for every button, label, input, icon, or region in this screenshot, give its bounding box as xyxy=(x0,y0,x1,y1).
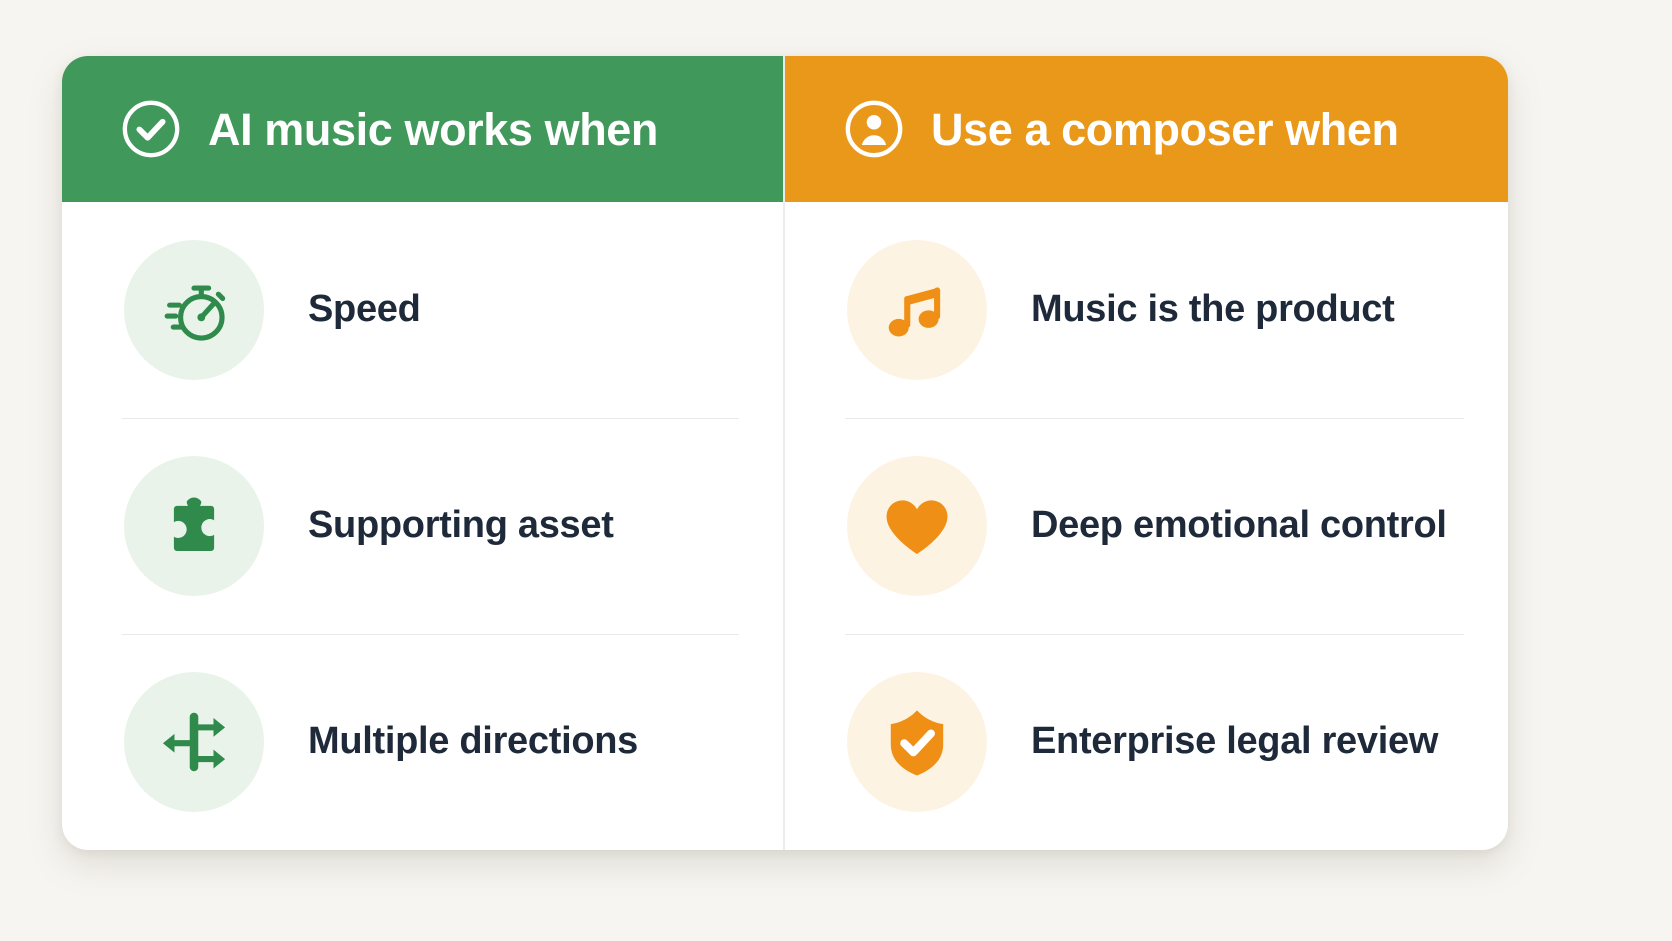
column-body-composer: Music is the product Deep emotional cont… xyxy=(785,202,1508,850)
list-item-label: Multiple directions xyxy=(308,721,638,763)
puzzle-piece-icon xyxy=(124,456,264,596)
list-item[interactable]: Supporting asset xyxy=(62,418,783,634)
list-item[interactable]: Music is the product xyxy=(785,202,1508,418)
column-header-title: Use a composer when xyxy=(931,107,1399,152)
person-circle-icon xyxy=(843,98,905,160)
check-circle-icon xyxy=(120,98,182,160)
column-composer: Use a composer when Music is the xyxy=(785,56,1508,850)
list-item[interactable]: Multiple directions xyxy=(62,634,783,850)
list-item-label: Speed xyxy=(308,289,421,331)
column-body-ai-music: Speed Supporting asset xyxy=(62,202,783,850)
comparison-card: AI music works when xyxy=(62,56,1508,850)
column-header-title: AI music works when xyxy=(208,107,658,152)
column-ai-music: AI music works when xyxy=(62,56,785,850)
shield-check-icon xyxy=(847,672,987,812)
heart-icon xyxy=(847,456,987,596)
list-item[interactable]: Deep emotional control xyxy=(785,418,1508,634)
list-item-label: Enterprise legal review xyxy=(1031,721,1438,763)
column-header-composer: Use a composer when xyxy=(785,56,1508,202)
list-item-label: Supporting asset xyxy=(308,505,614,547)
stopwatch-speed-icon xyxy=(124,240,264,380)
music-note-icon xyxy=(847,240,987,380)
list-item[interactable]: Speed xyxy=(62,202,783,418)
list-item-label: Music is the product xyxy=(1031,289,1394,331)
list-item[interactable]: Enterprise legal review xyxy=(785,634,1508,850)
list-item-label: Deep emotional control xyxy=(1031,505,1447,547)
signpost-arrows-icon xyxy=(124,672,264,812)
column-header-ai-music: AI music works when xyxy=(62,56,783,202)
